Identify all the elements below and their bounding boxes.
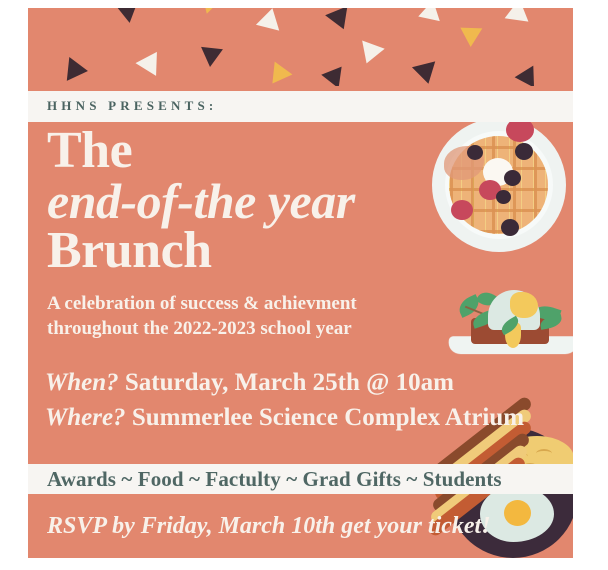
poached-egg-toast-illustration — [448, 280, 573, 366]
blackberry-icon — [504, 170, 521, 186]
confetti-triangle-icon — [67, 57, 89, 83]
blackberry-icon — [496, 190, 511, 204]
subtitle-line-2: throughout the 2022-2023 school year — [47, 316, 357, 341]
confetti-triangle-band — [28, 8, 573, 86]
poster-subtitle: A celebration of success & achievment th… — [47, 291, 357, 341]
presents-label: HHNS PRESENTS: — [47, 98, 217, 114]
headline-line-3: Brunch — [47, 226, 355, 277]
confetti-triangle-icon — [325, 8, 355, 34]
features-band: Awards ~ Food ~ Factulty ~ Grad Gifts ~ … — [28, 464, 573, 494]
confetti-triangle-icon — [515, 66, 544, 86]
confetti-triangle-icon — [272, 62, 293, 86]
headline-line-2: end-of-the year — [47, 177, 355, 226]
poster-root: HHNS PRESENTS: The end-of-the year Brunc… — [0, 0, 608, 570]
confetti-triangle-icon — [115, 8, 142, 25]
features-label: Awards ~ Food ~ Factulty ~ Grad Gifts ~ … — [47, 467, 502, 492]
confetti-triangle-icon — [321, 67, 349, 86]
confetti-triangle-icon — [135, 51, 157, 76]
headline-line-1: The — [47, 126, 355, 177]
confetti-triangle-icon — [199, 47, 223, 68]
presents-band: HHNS PRESENTS: — [28, 91, 573, 122]
confetti-triangle-icon — [198, 8, 220, 16]
pancake-detail-icon — [536, 449, 552, 458]
where-row: Where? Summerlee Science Complex Atrium — [45, 401, 524, 436]
confetti-triangle-icon — [256, 8, 284, 31]
blackberry-icon — [467, 145, 483, 160]
rsvp-label: RSVP by Friday, March 10th get your tick… — [47, 513, 491, 540]
confetti-triangle-icon — [355, 40, 384, 67]
when-row: When? Saturday, March 25th @ 10am — [45, 366, 524, 401]
when-value: Saturday, March 25th @ 10am — [125, 369, 454, 396]
blackberry-icon — [515, 143, 533, 160]
when-label: When? — [45, 369, 119, 396]
confetti-triangle-icon — [460, 28, 483, 48]
waffle-with-berries-illustration — [426, 112, 573, 264]
poster-canvas: HHNS PRESENTS: The end-of-the year Brunc… — [28, 8, 573, 558]
confetti-triangle-icon — [412, 61, 440, 86]
fried-egg-yolk-icon — [504, 500, 531, 526]
subtitle-line-1: A celebration of success & achievment — [47, 291, 357, 316]
raspberry-icon — [451, 200, 473, 220]
blackberry-icon — [501, 219, 519, 236]
poster-headline: The end-of-the year Brunch — [47, 126, 355, 277]
confetti-triangle-icon — [505, 8, 532, 22]
where-label: Where? — [45, 404, 126, 431]
confetti-triangle-icon — [418, 8, 443, 21]
where-value: Summerlee Science Complex Atrium — [132, 404, 524, 431]
yolk-icon — [510, 292, 538, 318]
poster-details: When? Saturday, March 25th @ 10am Where?… — [45, 366, 524, 435]
